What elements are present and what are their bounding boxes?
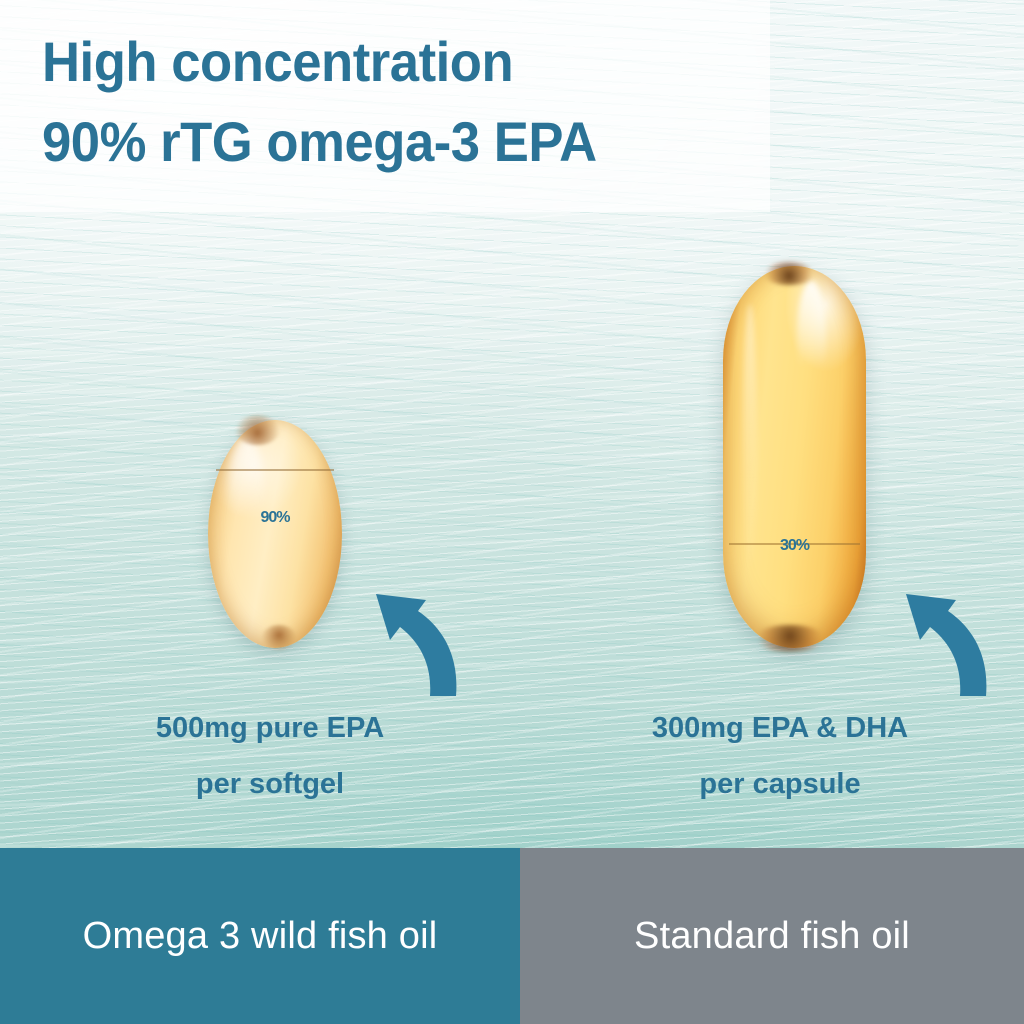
- curved-arrow-up-left-icon: [360, 578, 464, 698]
- bar-label-omega3-wild-fish-oil: Omega 3 wild fish oil: [0, 848, 520, 1024]
- capsule-left-tip-top: [235, 415, 281, 445]
- capsule-left-percent-label: 90%: [208, 509, 342, 527]
- capsule-right-highlight: [797, 281, 826, 396]
- capsule-left-seam-line: [216, 469, 334, 471]
- capsule-left-highlight: [229, 438, 264, 543]
- capsule-left-tip-bottom: [262, 625, 297, 650]
- bottom-label-bars: Omega 3 wild fish oil Standard fish oil: [0, 848, 1024, 1024]
- bar-label-standard-fish-oil: Standard fish oil: [520, 848, 1024, 1024]
- caption-left-line-2: per softgel: [40, 756, 500, 812]
- capsule-right-percent-label: 30%: [723, 537, 866, 555]
- caption-right-line-1: 300mg EPA & DHA: [545, 700, 1015, 756]
- headline-line-1: High concentration: [42, 22, 719, 102]
- caption-right-line-2: per capsule: [545, 756, 1015, 812]
- capsule-left-softgel: [208, 420, 342, 648]
- comparison-infographic: High concentration 90% rTG omega-3 EPA 9…: [0, 0, 1024, 1024]
- caption-right: 300mg EPA & DHA per capsule: [545, 700, 1015, 812]
- capsule-right-tip-top: [763, 262, 814, 285]
- page-title: High concentration 90% rTG omega-3 EPA: [42, 22, 719, 182]
- capsule-right-standard: [723, 266, 866, 648]
- curved-arrow-up-left-icon: [890, 578, 994, 698]
- capsule-left-body: [208, 420, 342, 648]
- capsule-right-body: [723, 266, 866, 648]
- capsule-right-tip-bottom: [754, 625, 826, 652]
- headline-line-2: 90% rTG omega-3 EPA: [42, 102, 719, 182]
- caption-left: 500mg pure EPA per softgel: [40, 700, 500, 812]
- caption-left-line-1: 500mg pure EPA: [40, 700, 500, 756]
